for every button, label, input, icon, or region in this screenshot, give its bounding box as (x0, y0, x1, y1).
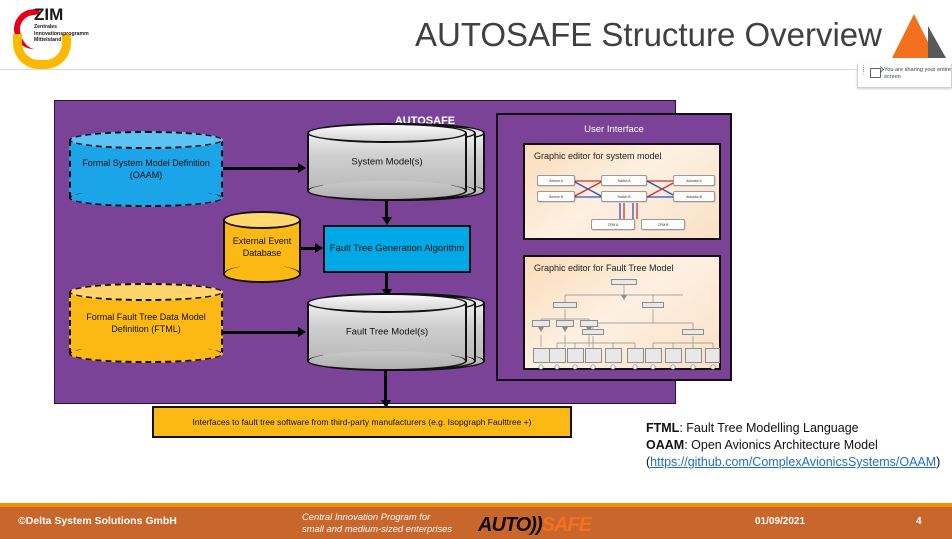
page-title: AUTOSAFE Structure Overview (415, 16, 882, 54)
ft-basic-event[interactable] (605, 348, 622, 363)
arrow-head (298, 327, 306, 337)
zim-logo: ZIM Zentrales Innovationsprogramm Mittel… (8, 4, 80, 62)
ft-event-node[interactable] (556, 320, 574, 327)
system-models-cylinder-stack: System Model(s) (307, 123, 485, 201)
ft-basic-event[interactable] (627, 348, 644, 363)
footer-page-number: 4 (916, 516, 922, 527)
ft-basic-event[interactable] (549, 348, 566, 363)
external-event-database-cylinder: External Event Database (223, 211, 301, 283)
screen-share-notification[interactable]: ⋮⋮ You are sharing your entire screen (857, 64, 952, 88)
structure-diagram: AUTOSAFE Formal System Model Definition … (0, 88, 952, 448)
fault-tree-models-cylinder-stack: Fault Tree Model(s) (307, 293, 485, 371)
node-actuator-b[interactable]: Actuator B (673, 191, 715, 202)
footer-copyright: ©Delta System Solutions GmbH (18, 515, 177, 527)
ft-basic-event[interactable] (533, 348, 550, 363)
footer-program-line1: Central Innovation Program for (302, 511, 452, 523)
fault-tree-generation-algorithm-box: Fault Tree Generation Algorithm (323, 225, 471, 273)
legend-paren-close: ) (936, 455, 940, 469)
legend-oaam-value: : Open Avionics Architecture Model (684, 438, 878, 452)
arrow-head (382, 217, 392, 225)
cylinder-label: External Event Database (223, 235, 301, 259)
ft-gate-node[interactable] (682, 329, 704, 335)
ft-basic-event[interactable] (665, 348, 682, 363)
node-sensor-a[interactable]: Sensor A (537, 175, 575, 186)
slide-footer: ©Delta System Solutions GmbH Central Inn… (0, 507, 952, 539)
node-switch-a[interactable]: Switch A (601, 175, 647, 186)
delta-system-solutions-triangle-logo (888, 12, 950, 62)
cylinder-bottom (69, 345, 223, 363)
zim-logo-word: ZIM (34, 5, 63, 25)
cylinder-top (69, 131, 223, 149)
interfaces-banner: Interfaces to fault tree software from t… (152, 406, 572, 438)
cylinder-label: Formal System Model Definition (OAAM) (69, 157, 223, 181)
node-cpm-a[interactable]: CPM A (591, 219, 635, 230)
legend-ftml-value: : Fault Tree Modelling Language (679, 421, 858, 435)
zim-logo-subtitle: Zentrales Innovationsprogramm Mittelstan… (34, 24, 82, 44)
footer-date: 01/09/2021 (755, 516, 805, 527)
brand-auto-text: AUTO)) (478, 514, 542, 536)
autosafe-brand-logo: AUTO))SAFE (478, 514, 591, 537)
stack-sheet-front: Fault Tree Model(s) (307, 293, 467, 371)
arrow-fault-tree-model-to-interfaces (384, 370, 387, 404)
oaam-github-link[interactable]: https://github.com/ComplexAvionicsSystem… (650, 455, 936, 469)
system-models-label: System Model(s) (307, 157, 467, 168)
brand-safe-text: SAFE (542, 514, 591, 536)
ft-event-node[interactable] (532, 320, 550, 327)
ft-gate-node[interactable] (582, 329, 604, 335)
formal-fault-tree-data-model-cylinder: Formal Fault Tree Data Model Definition … (69, 283, 223, 363)
legend-link-line: (https://github.com/ComplexAvionicsSyste… (646, 454, 948, 471)
fault-tree-models-label: Fault Tree Model(s) (307, 327, 467, 338)
cylinder-bottom (69, 189, 223, 207)
screen-share-icon (870, 68, 881, 78)
ft-gate-node[interactable] (553, 302, 577, 308)
ft-basic-event[interactable] (567, 348, 584, 363)
ft-basic-event[interactable] (645, 348, 662, 363)
legend: FTML: Fault Tree Modelling Language OAAM… (646, 420, 948, 471)
ft-basic-event[interactable] (585, 348, 602, 363)
legend-ftml-line: FTML: Fault Tree Modelling Language (646, 420, 948, 437)
user-interface-panel: User Interface Graphic editor for system… (496, 113, 732, 381)
autosafe-container: AUTOSAFE Formal System Model Definition … (54, 100, 676, 404)
graphic-editor-fault-tree-model[interactable]: Graphic editor for Fault Tree Model (523, 255, 721, 370)
cylinder-label: Formal Fault Tree Data Model Definition … (69, 311, 223, 335)
arrow-ftml-to-fault-tree-model (223, 331, 299, 334)
header-divider (0, 69, 952, 70)
arrow-head (298, 163, 306, 173)
cylinder-bottom (223, 265, 301, 283)
formal-system-model-definition-cylinder: Formal System Model Definition (OAAM) (69, 131, 223, 207)
footer-program-line2: small and medium-sized enterprises (302, 523, 452, 535)
ft-event-node[interactable] (580, 320, 598, 327)
ft-basic-event[interactable] (685, 348, 702, 363)
graphic-editor-system-model[interactable]: Graphic editor for system model (523, 143, 721, 240)
drag-handle-icon[interactable]: ⋮⋮ (858, 67, 870, 75)
legend-oaam-line: OAAM: Open Avionics Architecture Model (646, 437, 948, 454)
footer-program-text: Central Innovation Program for small and… (302, 511, 452, 535)
legend-oaam-key: OAAM (646, 438, 684, 452)
screen-share-text: You are sharing your entire screen (884, 67, 951, 81)
user-interface-label: User Interface (498, 124, 730, 135)
slide-header: ZIM Zentrales Innovationsprogramm Mittel… (0, 0, 952, 70)
node-sensor-b[interactable]: Sensor B (537, 191, 575, 202)
node-actuator-a[interactable]: Actuator A (673, 175, 715, 186)
ft-basic-event[interactable] (705, 348, 720, 363)
ft-top-event[interactable] (611, 279, 637, 285)
stack-sheet-front: System Model(s) (307, 123, 467, 201)
cylinder-top (69, 283, 223, 301)
node-cpm-b[interactable]: CPM B (641, 219, 685, 230)
arrow-oaam-to-system-model (223, 167, 299, 170)
legend-ftml-key: FTML (646, 421, 679, 435)
arrow-head (315, 243, 323, 253)
node-switch-b[interactable]: Switch B (601, 191, 647, 202)
cylinder-top (223, 211, 301, 229)
ft-gate-node[interactable] (642, 302, 664, 308)
